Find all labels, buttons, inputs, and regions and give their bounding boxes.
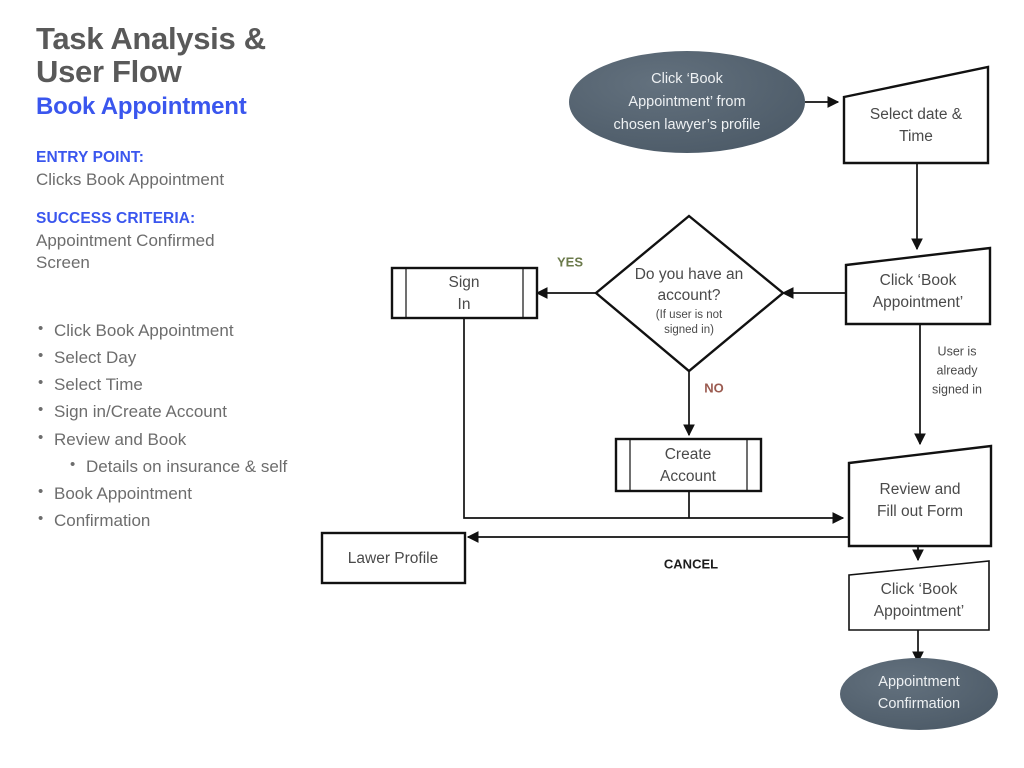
node-lawyer-profile[interactable]: Lawer Profile — [322, 533, 465, 583]
user-flow-diagram: Click ‘Book Appointment’ from chosen law… — [0, 0, 1024, 768]
confirmation-label-line2: Confirmation — [878, 696, 960, 712]
lawyer-profile-label: Lawer Profile — [348, 550, 438, 567]
start-label-line2: Appointment’ from — [628, 94, 745, 110]
click-book-1-label-line1: Click ‘Book — [880, 272, 957, 289]
decision-sublabel-line1: (If user is not — [656, 309, 723, 321]
decision-label-line2: account? — [658, 287, 721, 304]
create-account-label-line2: Account — [660, 468, 717, 485]
review-form-label-line2: Fill out Form — [877, 503, 963, 520]
review-form-label-line1: Review and — [880, 481, 961, 498]
select-date-label-line1: Select date & — [870, 106, 963, 123]
node-decision-have-account[interactable]: Do you have an account? (If user is not … — [596, 216, 783, 371]
node-appointment-confirmation[interactable]: Appointment Confirmation — [840, 658, 998, 730]
node-start-terminator[interactable]: Click ‘Book Appointment’ from chosen law… — [569, 51, 805, 153]
edge-note-signed-in-line2: already — [937, 363, 979, 377]
click-book-1-label-line2: Appointment’ — [873, 294, 963, 311]
slide-canvas: Task Analysis & User Flow Book Appointme… — [0, 0, 1024, 768]
edge-label-yes: YES — [557, 254, 583, 269]
confirmation-ellipse-shape — [840, 658, 998, 730]
click-book-2-label-line2: Appointment’ — [874, 603, 964, 620]
node-create-account[interactable]: Create Account — [616, 439, 761, 491]
node-sign-in[interactable]: Sign In — [392, 268, 537, 318]
node-review-fill-form[interactable]: Review and Fill out Form — [849, 446, 991, 546]
confirmation-label-line1: Appointment — [878, 674, 959, 690]
start-label-line3: chosen lawyer’s profile — [614, 117, 761, 133]
click-book-2-label-line1: Click ‘Book — [881, 581, 958, 598]
node-click-book-appointment-1[interactable]: Click ‘Book Appointment’ — [846, 248, 990, 324]
decision-label-line1: Do you have an — [635, 266, 744, 283]
edge-note-signed-in-line3: signed in — [932, 382, 982, 396]
node-click-book-appointment-2[interactable]: Click ‘Book Appointment’ — [849, 561, 989, 630]
decision-sublabel-line2: signed in) — [664, 324, 714, 336]
sign-in-label-line2: In — [458, 296, 471, 313]
node-select-date-time[interactable]: Select date & Time — [844, 67, 988, 163]
sign-in-label-line1: Sign — [448, 274, 479, 291]
edge-label-no: NO — [704, 380, 724, 395]
edge-label-cancel: CANCEL — [664, 556, 718, 571]
edge-note-signed-in-line1: User is — [938, 344, 977, 358]
start-label-line1: Click ‘Book — [651, 71, 723, 87]
create-account-label-line1: Create — [665, 446, 712, 463]
select-date-label-line2: Time — [899, 128, 933, 145]
